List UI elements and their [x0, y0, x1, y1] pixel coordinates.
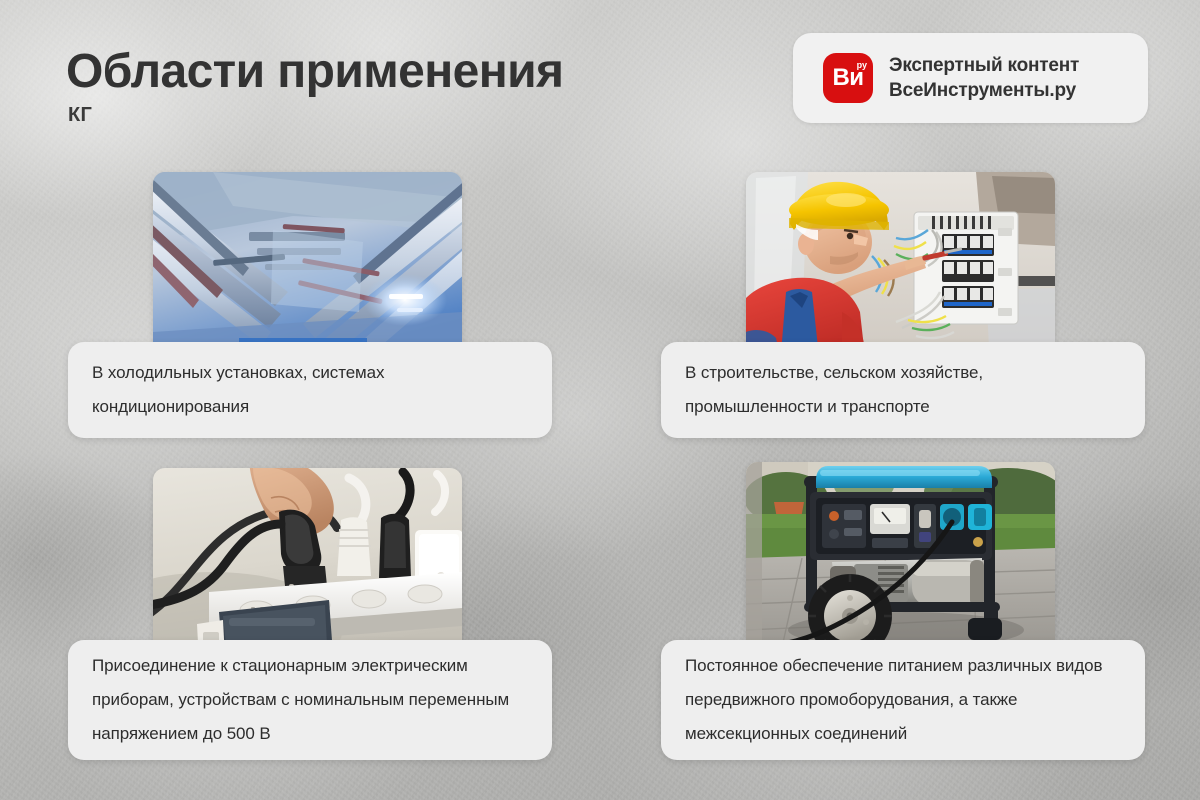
card-caption-text: Присоединение к стационарным электрическ… — [68, 649, 552, 751]
card-caption-text: В холодильных установках, системах конди… — [68, 356, 552, 424]
brand-line-2: ВсеИнструменты.ру — [889, 80, 1079, 102]
card-caption-text: Постоянное обеспечение питанием различны… — [661, 649, 1145, 751]
logo-domain-superscript: ру — [857, 61, 867, 70]
industrial-hvac-ceiling-pipes-photo — [153, 172, 462, 366]
portable-gasoline-generator-photo — [746, 462, 1055, 656]
card-caption: В строительстве, сельском хозяйстве, про… — [661, 342, 1145, 438]
card-caption: Постоянное обеспечение питанием различны… — [661, 640, 1145, 760]
vseinstrumenty-logo-icon: Ви ру — [823, 53, 873, 103]
brand-text: Экспертный контент ВсеИнструменты.ру — [889, 55, 1079, 102]
card-caption-text: В строительстве, сельском хозяйстве, про… — [661, 356, 1145, 424]
electrician-working-on-panel-photo — [746, 172, 1055, 366]
brand-badge: Ви ру Экспертный контент ВсеИнструменты.… — [793, 33, 1148, 123]
card-caption: Присоединение к стационарным электрическ… — [68, 640, 552, 760]
brand-line-1: Экспертный контент — [889, 55, 1079, 77]
hand-plugging-into-power-strip-photo — [153, 468, 462, 662]
card-caption: В холодильных установках, системах конди… — [68, 342, 552, 438]
page-subtitle: КГ — [68, 104, 92, 127]
page-title: Области применения — [66, 46, 563, 98]
